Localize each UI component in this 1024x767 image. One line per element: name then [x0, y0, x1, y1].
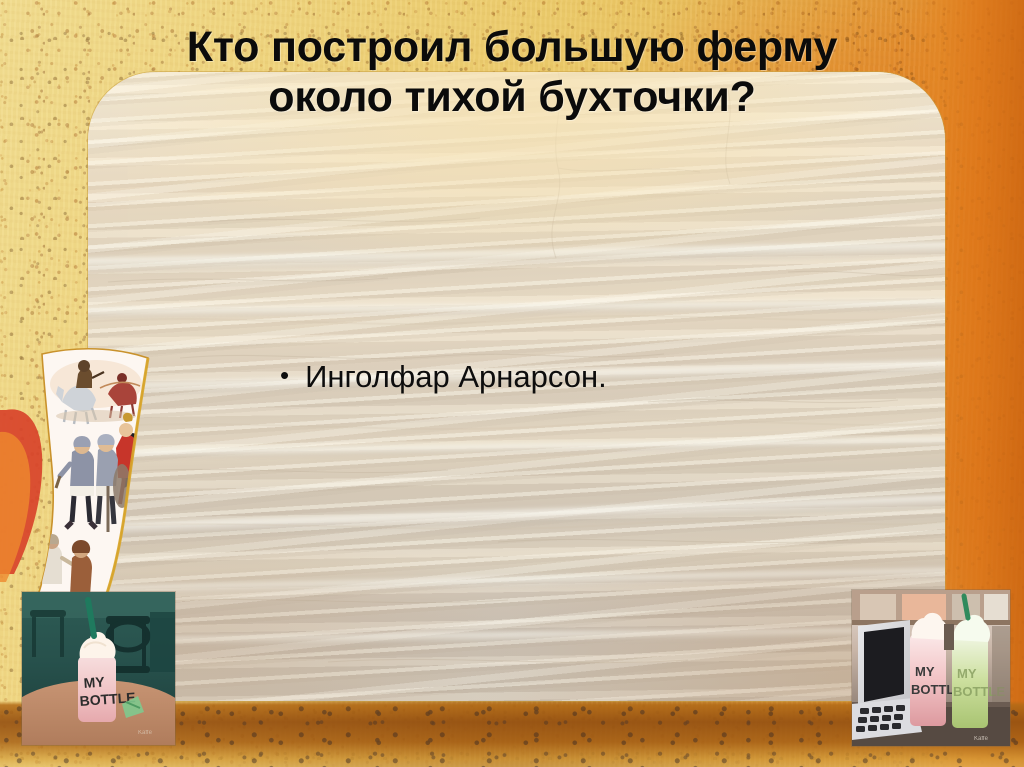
svg-text:MY: MY — [83, 674, 106, 691]
viking-warriors-banner — [0, 336, 160, 604]
svg-text:Kaffe: Kaffe — [138, 730, 153, 736]
my-bottle-cafe-photo-art: MY BOTTLE Kaffe — [22, 592, 175, 745]
presentation-slide: Кто построил большую ферму около тихой б… — [0, 0, 1024, 767]
list-item-label: Инголфар Арнарсон. — [305, 358, 607, 397]
slide-title: Кто построил большую ферму около тихой б… — [40, 22, 984, 123]
bullet-marker-icon: • — [280, 362, 289, 388]
my-bottle-laptop-photo: MY BOTTLE MY BOTTLE Kaffe — [852, 590, 1010, 746]
my-bottle-laptop-photo-art: MY BOTTLE MY BOTTLE Kaffe — [852, 590, 1010, 746]
svg-text:MY: MY — [957, 666, 977, 681]
slide-body-list: • Инголфар Арнарсон. — [280, 358, 900, 397]
svg-text:Kaffe: Kaffe — [974, 736, 989, 742]
my-bottle-cafe-photo: MY BOTTLE Kaffe — [22, 592, 175, 745]
svg-text:MY: MY — [915, 664, 935, 679]
list-item: • Инголфар Арнарсон. — [280, 358, 900, 397]
